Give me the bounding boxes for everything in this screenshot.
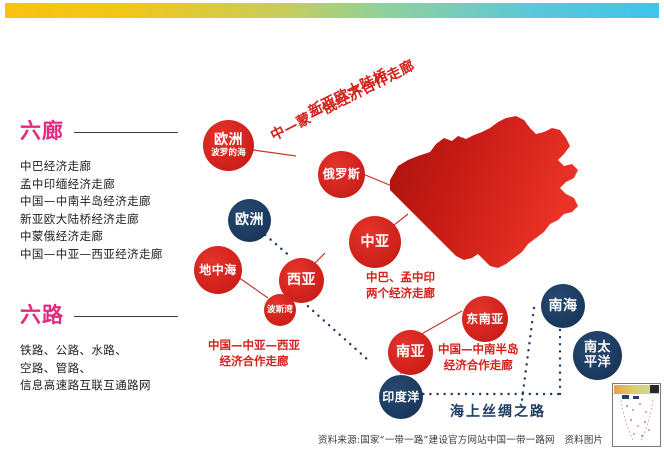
node-mediterranean[interactable]: 地中海 bbox=[194, 246, 242, 294]
node-label-main: 欧洲 bbox=[214, 133, 243, 148]
label-maritime-silk-road: 海上丝绸之路 bbox=[450, 403, 546, 422]
node-label-main: 西亚 bbox=[287, 273, 316, 288]
node-indian-ocean[interactable]: 印度洋 bbox=[379, 375, 423, 419]
node-label-main: 南太 平洋 bbox=[584, 341, 611, 370]
node-label-main: 欧洲 bbox=[235, 213, 264, 228]
label-two-corridors: 中巴、孟中印 两个经济走廊 bbox=[366, 270, 435, 301]
node-central-asia[interactable]: 中亚 bbox=[349, 216, 401, 268]
node-europe-baltic[interactable]: 欧洲 波罗的海 bbox=[203, 120, 254, 171]
label-china-indochina: 中国—中南半岛 经济合作走廊 bbox=[438, 342, 519, 373]
inset-islands-shape bbox=[613, 384, 660, 446]
node-label-main: 南亚 bbox=[396, 345, 425, 360]
node-label-main: 印度洋 bbox=[382, 391, 420, 404]
node-southeast-asia[interactable]: 东南亚 bbox=[462, 296, 508, 342]
node-south-asia[interactable]: 南亚 bbox=[388, 330, 433, 375]
node-label-main: 南海 bbox=[549, 299, 578, 314]
source-attribution: 资料来源:国家“一带一路”建设官方网站中国一带一路网 资料图片 bbox=[318, 432, 603, 446]
map-stage: 欧洲 波罗的海 俄罗斯 欧洲 地中海 西亚 波斯湾 中亚 东南亚 南亚 印度洋 … bbox=[0, 0, 664, 468]
node-label-main: 东南亚 bbox=[466, 313, 504, 326]
node-label-main: 俄罗斯 bbox=[323, 168, 361, 181]
node-label-main: 地中海 bbox=[199, 264, 237, 277]
node-label-main: 中亚 bbox=[361, 235, 390, 250]
node-label-sub: 波罗的海 bbox=[211, 149, 246, 158]
south-china-sea-inset bbox=[612, 383, 661, 447]
node-persian-gulf[interactable]: 波斯湾 bbox=[264, 294, 296, 326]
node-russia[interactable]: 俄罗斯 bbox=[318, 151, 365, 198]
node-south-pacific[interactable]: 南太 平洋 bbox=[573, 331, 622, 380]
node-europe[interactable]: 欧洲 bbox=[228, 199, 271, 242]
label-china-central-west-asia: 中国—中亚—西亚 经济合作走廊 bbox=[208, 338, 300, 369]
china-map-shape bbox=[378, 108, 588, 276]
node-label-main: 波斯湾 bbox=[267, 306, 293, 315]
node-south-china-sea[interactable]: 南海 bbox=[541, 284, 585, 328]
